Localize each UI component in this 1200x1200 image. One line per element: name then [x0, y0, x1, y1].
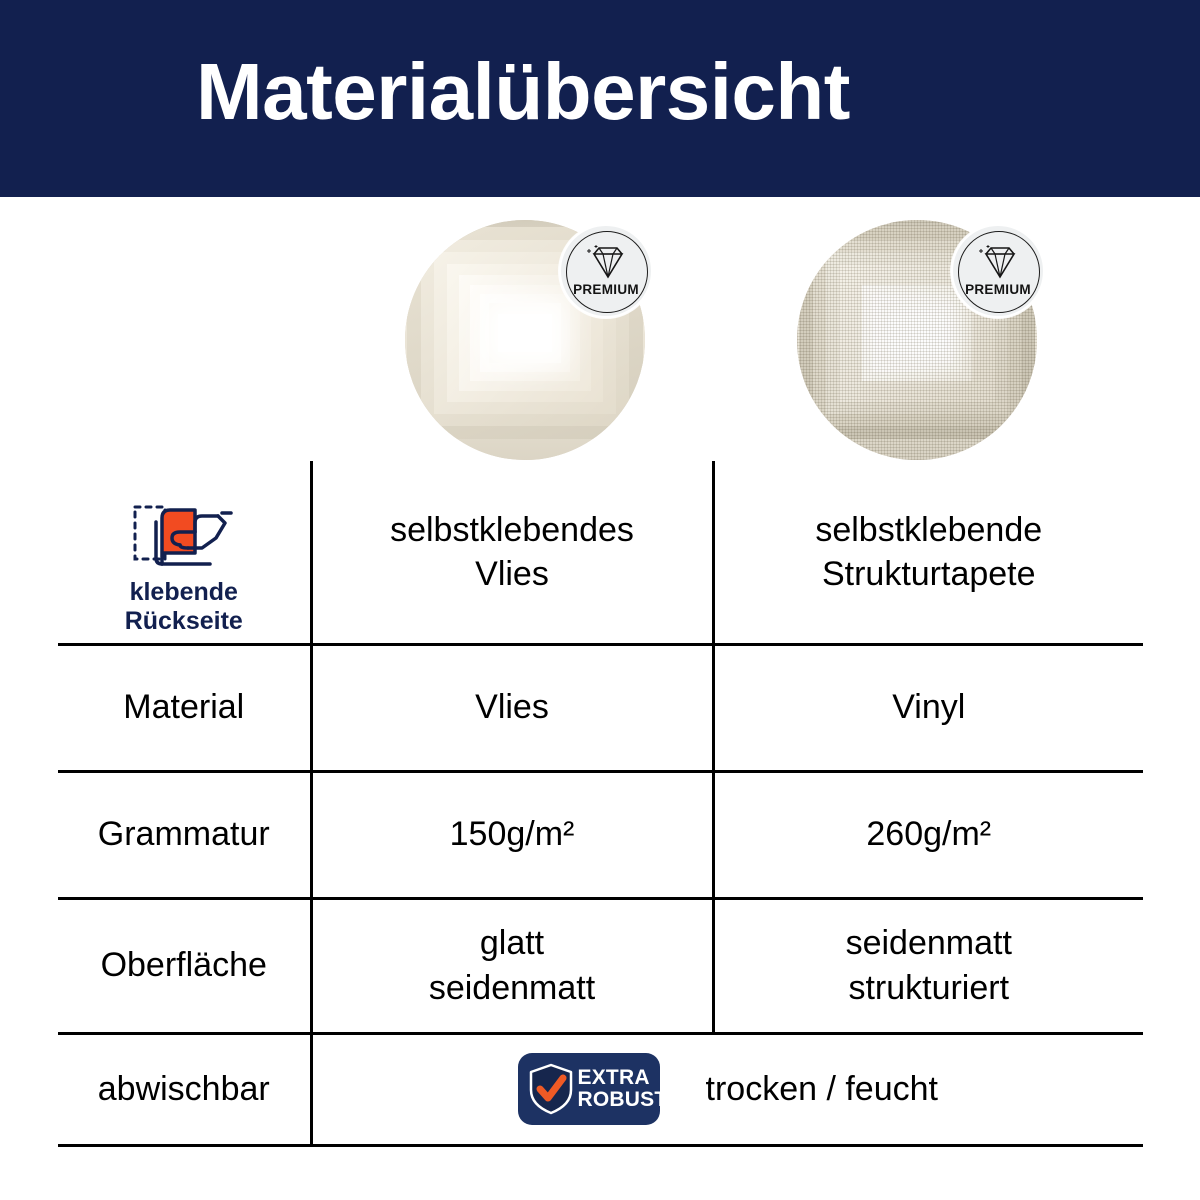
- product-preview-strukturtapete[interactable]: PREMIUM: [797, 220, 1037, 460]
- row-label-abwischbar: abwischbar: [58, 1033, 311, 1145]
- oberflaeche-a-line2: seidenmatt: [429, 969, 595, 1007]
- page-title: Materialübersicht: [196, 48, 850, 136]
- row-value-grammatur-a: 150g/m²: [311, 771, 713, 898]
- row-label-material: Material: [58, 644, 311, 771]
- row-value-material-b: Vinyl: [713, 644, 1143, 771]
- column-header-strukturtapete: selbstklebende Strukturtapete: [713, 461, 1143, 644]
- page-header: Materialübersicht: [0, 0, 1200, 197]
- product-preview-strip: PREMIUM: [0, 197, 1200, 497]
- oberflaeche-b-line1: seidenmatt: [846, 924, 1012, 962]
- adhesive-label-line1: klebende: [130, 578, 238, 606]
- extra-robust-badge: EXTRA ROBUST: [518, 1053, 660, 1125]
- adhesive-backing-cell: klebende Rückseite: [58, 461, 311, 644]
- table-row: Grammatur 150g/m² 260g/m²: [58, 771, 1143, 898]
- premium-badge: PREMIUM: [559, 224, 653, 318]
- material-comparison-table: klebende Rückseite selbstklebendes Vlies…: [58, 461, 1143, 1147]
- col-a-header-line1: selbstklebendes: [390, 511, 634, 549]
- table-row-abwischbar: abwischbar EXTRA ROBUST: [58, 1033, 1143, 1145]
- col-b-header-line1: selbstklebende: [815, 511, 1042, 549]
- row-value-material-a: Vlies: [311, 644, 713, 771]
- premium-badge-label: PREMIUM: [561, 282, 651, 297]
- oberflaeche-a-line1: glatt: [480, 924, 544, 962]
- diamond-icon: [585, 244, 631, 282]
- table-row: Oberfläche glatt seidenmatt seidenmatt s…: [58, 898, 1143, 1033]
- row-value-abwischbar: EXTRA ROBUST trocken / feucht: [311, 1033, 1143, 1145]
- row-label-grammatur: Grammatur: [58, 771, 311, 898]
- adhesive-label-line2: Rückseite: [125, 607, 243, 635]
- row-value-oberflaeche-a: glatt seidenmatt: [311, 898, 713, 1033]
- robust-label-line1: EXTRA: [578, 1067, 668, 1089]
- row-value-grammatur-b: 260g/m²: [713, 771, 1143, 898]
- product-preview-vlies[interactable]: PREMIUM: [405, 220, 645, 460]
- robust-label-line2: ROBUST: [578, 1089, 668, 1111]
- premium-badge: PREMIUM: [951, 224, 1045, 318]
- abwischbar-value-text: trocken / feucht: [706, 1070, 938, 1109]
- diamond-icon: [977, 244, 1023, 282]
- col-b-header-line2: Strukturtapete: [822, 555, 1036, 593]
- tunnel-light-core: [498, 314, 552, 352]
- shield-check-icon: [526, 1062, 576, 1116]
- premium-badge-label: PREMIUM: [953, 282, 1043, 297]
- table-row-header: klebende Rückseite selbstklebendes Vlies…: [58, 461, 1143, 644]
- material-overview-page: Materialübersicht: [0, 0, 1200, 1200]
- oberflaeche-b-line2: strukturiert: [848, 969, 1009, 1007]
- adhesive-peel-icon: [132, 498, 236, 572]
- row-value-oberflaeche-b: seidenmatt strukturiert: [713, 898, 1143, 1033]
- column-header-vlies: selbstklebendes Vlies: [311, 461, 713, 644]
- row-label-oberflaeche: Oberfläche: [58, 898, 311, 1033]
- col-a-header-line2: Vlies: [475, 555, 549, 593]
- table-row: Material Vlies Vinyl: [58, 644, 1143, 771]
